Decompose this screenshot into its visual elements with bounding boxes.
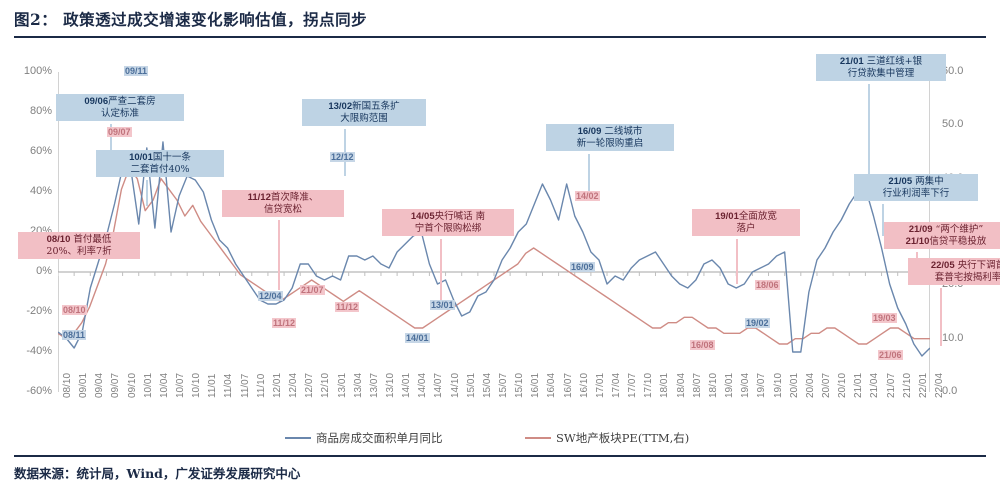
annotation-line: 行业利润率下行 — [859, 188, 973, 200]
x-tick-label: 08/10 — [62, 373, 73, 398]
annotation-date: 21/09 — [909, 224, 933, 235]
annotation-line: 20%、利率7折 — [23, 246, 135, 258]
y-left-tick-label: 60% — [6, 145, 52, 157]
annotation-callout[interactable]: 14/05央行喊话 南宁首个限购松绑 — [382, 209, 514, 236]
legend-item-1[interactable]: SW地产板块PE(TTM,右) — [525, 430, 689, 446]
x-tick-label: 21/10 — [902, 373, 913, 398]
x-tick-label: 21/07 — [886, 373, 897, 398]
annotation-leader-line — [940, 288, 942, 346]
annotation-leader-line — [868, 84, 870, 180]
annotation-date: 08/10 — [47, 234, 71, 245]
annotation-line: 09/06严查二套房 — [61, 96, 179, 108]
annotation-callout[interactable]: 21/09 “两个维护”21/10信贷平稳投放 — [884, 222, 1000, 249]
x-tick-label: 12/01 — [272, 373, 283, 398]
x-tick-label: 22/04 — [934, 373, 945, 398]
annotation-callout[interactable]: 19/01全面放宽落户 — [692, 209, 800, 236]
x-tick-label: 11/04 — [223, 374, 234, 398]
x-tick-label: 10/07 — [175, 373, 186, 398]
x-tick-label: 21/04 — [869, 373, 880, 398]
annotation-line: 19/01全面放宽 — [697, 211, 795, 223]
annotation-callout[interactable]: 09/06严查二套房认定标准 — [56, 94, 184, 121]
annotation-leader-line — [736, 239, 738, 284]
title-divider — [14, 36, 986, 38]
x-tick-label: 19/04 — [740, 373, 751, 398]
x-tick-label: 18/07 — [692, 373, 703, 398]
annotation-date: 22/05 — [931, 260, 955, 271]
annotation-line: 宁首个限购松绑 — [387, 223, 509, 235]
legend-item-0[interactable]: 商品房成交面积单月同比 — [285, 430, 443, 446]
annotation-line: 21/09 “两个维护” — [889, 224, 1000, 236]
annotation-leader-line — [588, 154, 590, 196]
x-tick-label: 16/10 — [579, 373, 590, 398]
x-tick-label: 17/07 — [627, 373, 638, 398]
legend-swatch-line — [525, 437, 551, 440]
data-point-label: 18/06 — [755, 280, 780, 290]
annotation-callout[interactable]: 13/02新国五条扩大限购范围 — [302, 99, 426, 126]
x-tick-label: 19/01 — [724, 373, 735, 398]
x-tick-label: 16/04 — [546, 373, 557, 398]
x-tick-label: 09/07 — [110, 373, 121, 398]
x-tick-label: 10/01 — [143, 373, 154, 398]
x-tick-label: 13/04 — [353, 373, 364, 398]
x-tick-label: 20/01 — [789, 373, 800, 398]
x-tick-label: 19/10 — [773, 373, 784, 398]
x-tick-label: 19/07 — [756, 373, 767, 398]
x-tick-label: 12/07 — [304, 373, 315, 398]
annotation-leader-line — [440, 239, 442, 300]
annotation-line: 08/10 首付最低 — [23, 234, 135, 246]
annotation-date: 10/01 — [129, 152, 153, 163]
x-tick-label: 17/04 — [611, 373, 622, 398]
x-tick-label: 10/04 — [159, 373, 170, 398]
x-tick-label: 17/10 — [643, 373, 654, 398]
annotation-line: 21/10信贷平稳投放 — [889, 236, 1000, 248]
annotation-callout[interactable]: 16/09 二线城市新一轮限购重启 — [546, 124, 674, 151]
annotation-leader-line — [146, 180, 148, 206]
annotation-callout[interactable]: 08/10 首付最低20%、利率7折 — [18, 232, 140, 259]
annotation-callout[interactable]: 21/05 两集中行业利润率下行 — [854, 174, 978, 201]
data-point-label: 16/08 — [690, 340, 715, 350]
chart-legend: 商品房成交面积单月同比 SW地产板块PE(TTM,右) — [0, 430, 1000, 452]
legend-swatch-line — [285, 437, 311, 440]
annotation-line: 14/05央行喊话 南 — [387, 211, 509, 223]
y-left-tick-label: 100% — [6, 65, 52, 77]
y-left-tick-label: 80% — [6, 105, 52, 117]
chart-title-wrap: 图2： 政策透过成交增速变化影响估值，拐点同步 — [14, 8, 986, 30]
annotation-date: 21/10 — [906, 236, 930, 247]
annotation-line: 二套首付40% — [101, 164, 219, 176]
annotation-line: 16/09 二线城市 — [551, 126, 669, 138]
x-tick-label: 12/10 — [320, 373, 331, 398]
annotation-date: 21/01 — [840, 56, 864, 67]
annotation-callout[interactable]: 10/01国十一条二套首付40% — [96, 150, 224, 177]
data-point-label: 12/12 — [330, 152, 355, 162]
data-point-label: 11/12 — [272, 318, 296, 328]
y-left-tick-label: 40% — [6, 185, 52, 197]
x-tick-label: 15/04 — [482, 373, 493, 398]
x-tick-label: 18/04 — [676, 373, 687, 398]
x-tick-label: 11/10 — [256, 374, 267, 398]
annotation-leader-line — [278, 220, 280, 290]
x-tick-label: 15/07 — [498, 373, 509, 398]
annotation-line: 大限购范围 — [307, 113, 421, 125]
x-tick-label: 11/07 — [240, 374, 251, 398]
annotation-line: 11/12首次降准、 — [227, 192, 339, 204]
x-tick-label: 11/01 — [207, 374, 218, 398]
x-tick-label: 20/10 — [837, 373, 848, 398]
x-tick-label: 09/04 — [94, 373, 105, 398]
x-tick-label: 09/01 — [78, 373, 89, 398]
annotation-line: 行贷款集中管理 — [821, 68, 941, 80]
x-tick-label: 15/10 — [514, 373, 525, 398]
x-tick-label: 13/10 — [385, 373, 396, 398]
data-point-label: 09/11 — [124, 66, 148, 76]
annotation-line: 新一轮限购重启 — [551, 138, 669, 150]
x-tick-label: 10/10 — [191, 373, 202, 398]
x-tick-label: 18/01 — [659, 373, 670, 398]
chart-page: 图2： 政策透过成交增速变化影响估值，拐点同步 100%80%60%40%20%… — [0, 0, 1000, 487]
data-point-label: 19/03 — [872, 313, 897, 323]
data-point-label: 12/04 — [258, 291, 283, 301]
source-note: 数据来源：统计局，Wind，广发证券发展研究中心 — [14, 463, 300, 482]
y-right-tick-label: 10.0 — [942, 332, 988, 344]
data-point-label: 13/01 — [430, 300, 455, 310]
y-right-tick-label: 50.0 — [942, 118, 988, 130]
footer-divider — [14, 455, 986, 457]
data-point-label: 21/07 — [300, 285, 325, 295]
annotation-date: 21/05 — [888, 176, 912, 187]
annotation-line: 22/05 央行下调首 — [913, 260, 1000, 272]
annotation-line: 13/02新国五条扩 — [307, 101, 421, 113]
data-point-label: 21/06 — [878, 350, 903, 360]
annotation-date: 09/06 — [84, 96, 108, 107]
data-point-label: 14/01 — [405, 333, 430, 343]
annotation-line: 10/01国十一条 — [101, 152, 219, 164]
data-point-label: 11/12 — [335, 302, 359, 312]
x-tick-label: 14/10 — [450, 373, 461, 398]
annotation-line: 套普宅按揭利率 — [913, 272, 1000, 284]
y-left-tick-label: -60% — [6, 385, 52, 397]
annotation-line: 21/01 三道红线+银 — [821, 56, 941, 68]
annotation-line: 21/05 两集中 — [859, 176, 973, 188]
page-title: 图2： 政策透过成交增速变化影响估值，拐点同步 — [14, 8, 986, 30]
x-tick-label: 18/10 — [708, 373, 719, 398]
x-tick-label: 14/01 — [401, 373, 412, 398]
annotation-line: 认定标准 — [61, 108, 179, 120]
annotation-callout[interactable]: 21/01 三道红线+银行贷款集中管理 — [816, 54, 946, 81]
data-point-label: 08/11 — [62, 330, 86, 340]
x-tick-label: 14/07 — [433, 373, 444, 398]
y-right-tick-label: 60.0 — [942, 65, 988, 77]
y-left-tick-label: -20% — [6, 305, 52, 317]
x-tick-label: 15/01 — [466, 373, 477, 398]
x-tick-label: 13/01 — [337, 373, 348, 398]
data-point-label: 16/09 — [570, 262, 595, 272]
annotation-callout[interactable]: 22/05 央行下调首套普宅按揭利率 — [908, 258, 1000, 285]
data-point-label: 14/02 — [575, 191, 600, 201]
x-tick-label: 22/01 — [918, 373, 929, 398]
x-tick-label: 09/10 — [127, 373, 138, 398]
x-tick-label: 17/01 — [595, 373, 606, 398]
data-point-label: 19/02 — [745, 318, 770, 328]
data-point-label: 09/07 — [107, 127, 132, 137]
legend-label: SW地产板块PE(TTM,右) — [556, 430, 689, 446]
annotation-callout[interactable]: 11/12首次降准、信贷宽松 — [222, 190, 344, 217]
annotation-date: 16/09 — [578, 126, 602, 137]
x-tick-label: 21/01 — [853, 373, 864, 398]
x-tick-label: 12/04 — [288, 373, 299, 398]
x-tick-label: 20/07 — [821, 373, 832, 398]
y-right-tick-label: 0.0 — [942, 385, 988, 397]
annotation-line: 落户 — [697, 223, 795, 235]
annotation-line: 信贷宽松 — [227, 204, 339, 216]
x-tick-label: 16/07 — [563, 373, 574, 398]
annotation-date: 13/02 — [328, 101, 352, 112]
y-left-tick-label: -40% — [6, 345, 52, 357]
x-tick-label: 14/04 — [417, 373, 428, 398]
legend-label: 商品房成交面积单月同比 — [316, 430, 443, 446]
data-point-label: 08/10 — [62, 305, 87, 315]
x-tick-label: 13/07 — [369, 373, 380, 398]
annotation-date: 19/01 — [715, 211, 739, 222]
x-tick-label: 16/01 — [530, 373, 541, 398]
y-left-tick-label: 0% — [6, 265, 52, 277]
annotation-date: 11/12 — [248, 192, 271, 203]
x-tick-label: 20/04 — [805, 373, 816, 398]
annotation-date: 14/05 — [411, 211, 435, 222]
